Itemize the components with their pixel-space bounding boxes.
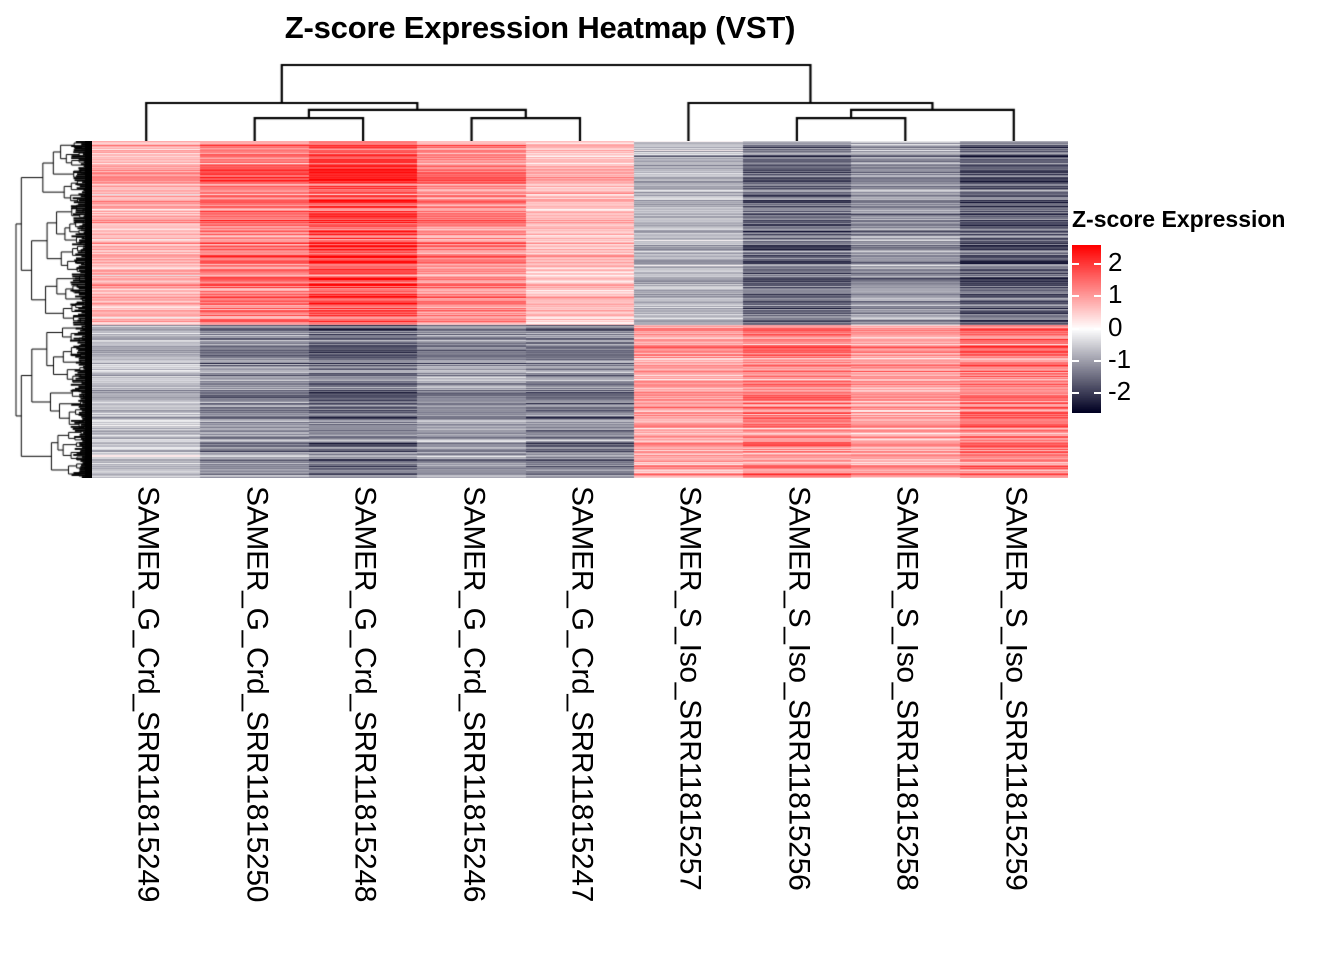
- legend-tick-mark: [1072, 295, 1079, 297]
- legend-tick-mark: [1094, 360, 1101, 362]
- legend-tick-mark: [1072, 360, 1079, 362]
- legend-tick-mark: [1072, 392, 1079, 394]
- legend-tick-mark: [1094, 295, 1101, 297]
- legend: Z-score Expression 210-1-2: [1072, 206, 1334, 426]
- page-title: Z-score Expression Heatmap (VST): [0, 10, 1080, 46]
- legend-tick-label: -1: [1108, 346, 1131, 372]
- legend-tick-mark: [1094, 263, 1101, 265]
- legend-colorbar: [1072, 245, 1101, 413]
- heatmap-grid[interactable]: [92, 141, 1068, 478]
- column-label-2: SAMER_G_Crd_SRR11815250: [200, 478, 308, 948]
- column-dendrogram: [92, 62, 1068, 141]
- column-label-text: SAMER_G_Crd_SRR11815248: [348, 486, 382, 902]
- heatmap-cells[interactable]: [92, 141, 1068, 478]
- legend-tick-label: 0: [1108, 314, 1122, 340]
- column-label-text: SAMER_G_Crd_SRR11815247: [565, 486, 599, 902]
- column-label-8: SAMER_S_Iso_SRR11815258: [851, 478, 959, 948]
- column-label-5: SAMER_G_Crd_SRR11815247: [526, 478, 634, 948]
- legend-tick-mark: [1094, 392, 1101, 394]
- column-labels: SAMER_G_Crd_SRR11815249SAMER_G_Crd_SRR11…: [92, 478, 1068, 948]
- legend-tick-label: 2: [1108, 249, 1122, 275]
- legend-tick-mark: [1094, 328, 1101, 330]
- column-label-text: SAMER_G_Crd_SRR11815246: [456, 486, 490, 902]
- heatmap-figure: Z-score Expression Heatmap (VST) SAMER_G…: [0, 0, 1344, 960]
- column-label-7: SAMER_S_Iso_SRR11815256: [743, 478, 851, 948]
- legend-tick-mark: [1072, 328, 1079, 330]
- column-label-4: SAMER_G_Crd_SRR11815246: [417, 478, 525, 948]
- column-label-text: SAMER_G_Crd_SRR11815249: [131, 486, 165, 902]
- legend-tick-label: 1: [1108, 281, 1122, 307]
- column-label-9: SAMER_S_Iso_SRR11815259: [960, 478, 1068, 948]
- column-label-text: SAMER_G_Crd_SRR11815250: [239, 486, 273, 902]
- column-label-text: SAMER_S_Iso_SRR11815258: [890, 486, 924, 890]
- column-label-text: SAMER_S_Iso_SRR11815257: [673, 486, 707, 890]
- column-label-3: SAMER_G_Crd_SRR11815248: [309, 478, 417, 948]
- legend-tick-label: -2: [1108, 378, 1131, 404]
- column-label-1: SAMER_G_Crd_SRR11815249: [92, 478, 200, 948]
- row-dendrogram: [14, 141, 92, 478]
- column-label-text: SAMER_S_Iso_SRR11815256: [781, 486, 815, 890]
- column-label-6: SAMER_S_Iso_SRR11815257: [634, 478, 742, 948]
- legend-tick-mark: [1072, 263, 1079, 265]
- column-label-text: SAMER_S_Iso_SRR11815259: [998, 486, 1032, 890]
- legend-title: Z-score Expression: [1072, 206, 1285, 233]
